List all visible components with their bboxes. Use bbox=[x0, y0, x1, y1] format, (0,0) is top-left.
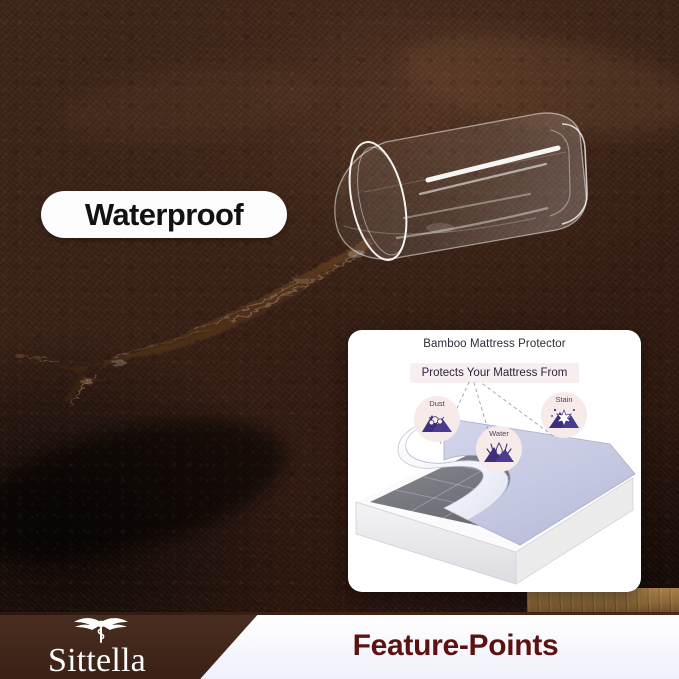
info-card-title: Bamboo Mattress Protector bbox=[348, 338, 641, 350]
fabric-highlight-2 bbox=[57, 57, 323, 154]
waterproof-label: Waterproof bbox=[85, 197, 243, 233]
badge-stain: Stain bbox=[541, 392, 587, 438]
stain-splatter-icon bbox=[547, 405, 581, 429]
badge-stain-label: Stain bbox=[555, 396, 572, 404]
badge-dust: Dust bbox=[414, 396, 460, 442]
badge-water: Water bbox=[476, 426, 522, 472]
product-image-stage: Waterproof Bamboo Mattress Protector Pro… bbox=[0, 0, 679, 679]
mattress-illustration bbox=[348, 382, 641, 592]
fabric-crease-shadow bbox=[0, 392, 300, 588]
info-card-subtitle: Protects Your Mattress From bbox=[410, 363, 580, 383]
footer-banner: Sittella Feature-Points bbox=[0, 612, 679, 679]
drinking-glass bbox=[300, 108, 600, 288]
brand-name: Sittella bbox=[48, 644, 146, 678]
badge-dust-label: Dust bbox=[429, 400, 444, 408]
water-splash-icon bbox=[482, 439, 516, 463]
footer-title: Feature-Points bbox=[232, 612, 679, 679]
badge-water-label: Water bbox=[489, 430, 509, 438]
waterproof-badge: Waterproof bbox=[41, 191, 287, 238]
dust-cloud-icon bbox=[420, 409, 454, 433]
brand-logo: Sittella bbox=[48, 618, 188, 678]
info-card: Bamboo Mattress Protector Protects Your … bbox=[348, 330, 641, 592]
